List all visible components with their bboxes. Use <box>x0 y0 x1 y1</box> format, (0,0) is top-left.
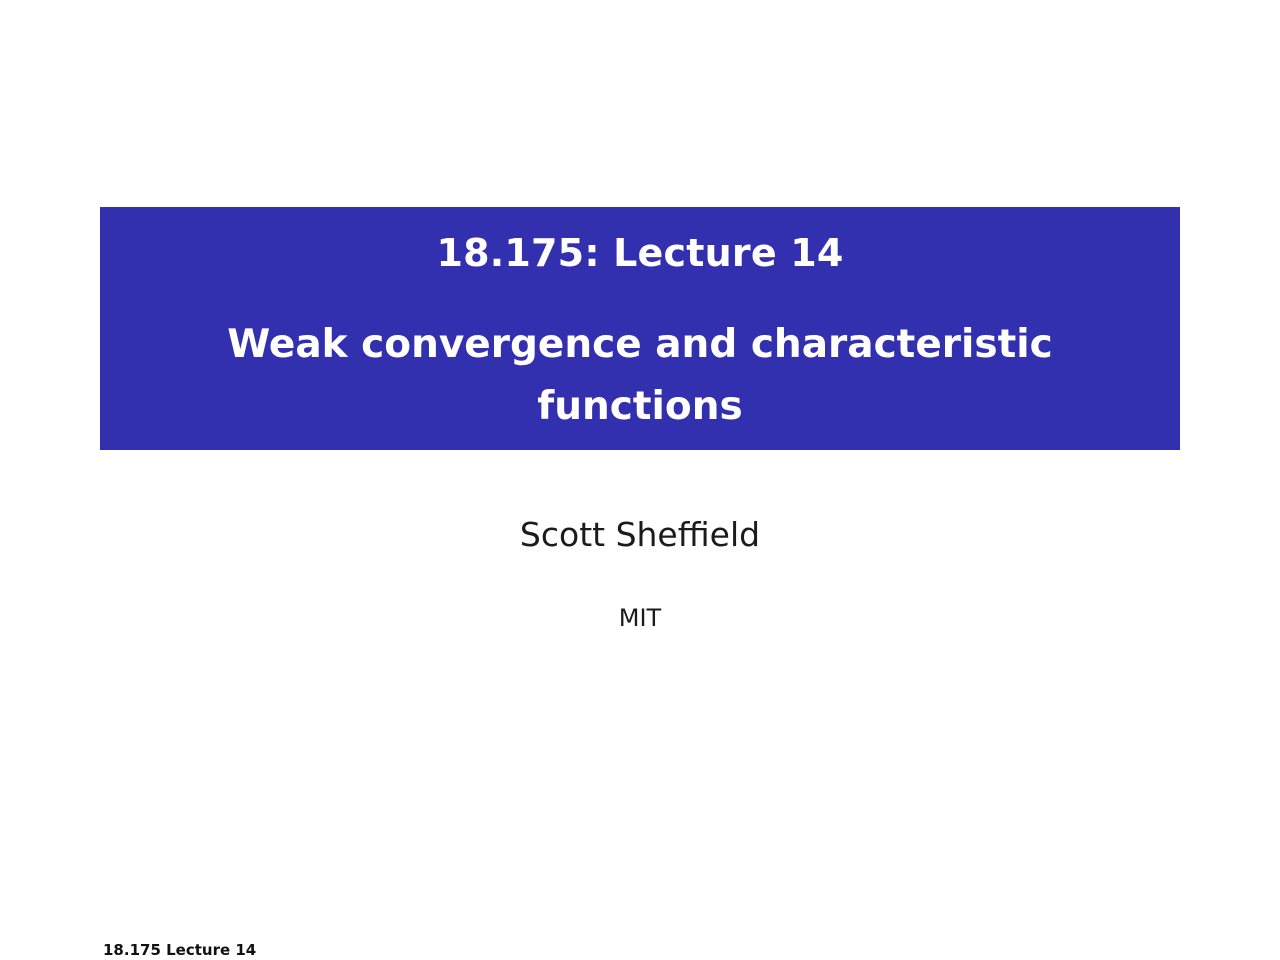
institute-name: MIT <box>0 602 1280 634</box>
title-banner: 18.175: Lecture 14 Weak convergence and … <box>100 207 1180 450</box>
slide-title: 18.175: Lecture 14 <box>100 229 1180 277</box>
slide-footer: 18.175 Lecture 14 <box>103 940 256 960</box>
presentation-slide: 18.175: Lecture 14 Weak convergence and … <box>0 0 1280 960</box>
slide-subtitle: Weak convergence and characteristic func… <box>118 314 1162 438</box>
author-name: Scott Sheffield <box>0 513 1280 557</box>
